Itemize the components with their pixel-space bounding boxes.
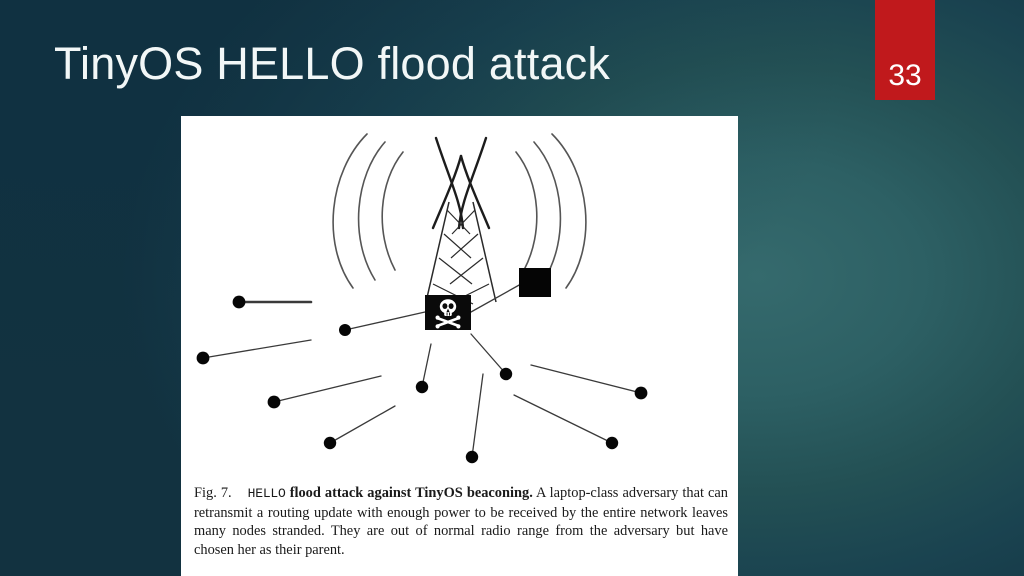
crossbone-knob-2 (436, 324, 440, 328)
sensor-nodes (197, 296, 648, 464)
slide-number-badge: 33 (875, 0, 935, 100)
link-stranded-node-3 (203, 340, 311, 358)
skull-eye-left (442, 303, 447, 309)
link-node-2-to-adversary (345, 312, 425, 330)
tower-flare-right-upper (459, 138, 486, 228)
crossbone-knob-3 (456, 316, 460, 320)
crossbone-knob-1 (436, 316, 440, 320)
link-adversary-to-base-station (471, 284, 521, 312)
figure-caption: Fig. 7.HELLO flood attack against TinyOS… (194, 484, 728, 559)
presentation-slide: TinyOS HELLO flood attack 33 (0, 0, 1024, 576)
link-stranded-node-7 (472, 374, 483, 457)
crossbone-knob-4 (456, 324, 460, 328)
link-stranded-node-10 (514, 395, 612, 443)
skull-and-crossbones-laptop-adversary (425, 295, 471, 330)
skull-teeth-gap-2 (449, 313, 450, 316)
radio-wave-arc-left-inner (382, 152, 403, 270)
radio-wave-arc-right-outer (552, 134, 586, 288)
radio-wave-arc-left-outer (333, 134, 367, 288)
slide-number-text: 33 (888, 60, 921, 92)
link-stranded-node-5 (330, 406, 395, 443)
tower-brace-1b (452, 210, 475, 234)
link-stranded-node-9 (531, 365, 641, 393)
skull-teeth-gap-1 (447, 313, 448, 316)
figure-panel: Fig. 7.HELLO flood attack against TinyOS… (181, 116, 738, 576)
link-node-8-to-adversary (471, 334, 506, 374)
skull-eye-right (449, 303, 454, 309)
sensor-node-2 (339, 324, 351, 336)
sensor-node-3 (197, 352, 210, 365)
hello-flood-diagram (181, 116, 738, 488)
link-stranded-node-4 (274, 376, 381, 402)
page-title: TinyOS HELLO flood attack (54, 36, 610, 92)
sensor-node-8 (500, 368, 512, 380)
caption-bold-phrase: flood attack against TinyOS beaconing. (290, 485, 533, 501)
network-links (203, 284, 641, 457)
sensor-node-9 (635, 387, 648, 400)
tower-brace-1a (447, 210, 470, 234)
sensor-node-7 (466, 451, 478, 463)
radio-antenna-tower (426, 138, 496, 304)
tower-antenna-flare (433, 138, 489, 228)
caption-mono-word: HELLO (248, 486, 286, 501)
tower-lattice-bracing (433, 210, 489, 304)
sensor-node-4 (268, 396, 281, 409)
base-station-square (519, 268, 551, 297)
tower-flare-left-upper (436, 138, 463, 228)
tower-brace-2b (451, 234, 478, 258)
tower-brace-2a (444, 234, 471, 258)
radio-wave-arcs-right (516, 134, 586, 288)
radio-wave-arc-left-middle (359, 142, 385, 280)
sensor-node-6 (416, 381, 428, 393)
link-node-6-to-adversary (422, 344, 431, 387)
radio-wave-arc-right-middle (534, 142, 560, 280)
sensor-node-10 (606, 437, 618, 449)
radio-wave-arcs-left (333, 134, 403, 288)
sensor-node-1 (233, 296, 246, 309)
skull-jaw (444, 312, 452, 316)
caption-figure-label: Fig. 7. (194, 485, 232, 501)
radio-wave-arc-right-inner (516, 152, 537, 270)
sensor-node-5 (324, 437, 336, 449)
